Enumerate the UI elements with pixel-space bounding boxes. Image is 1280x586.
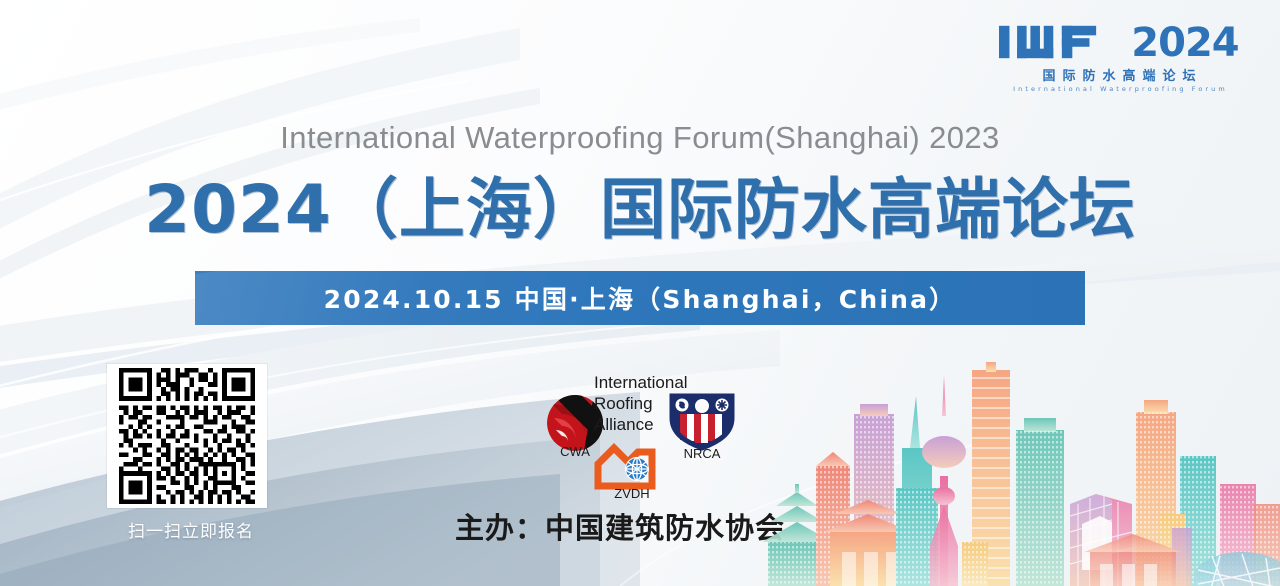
city-skyline xyxy=(760,356,1280,586)
zvdh-logo-icon: ZVDH xyxy=(594,442,670,500)
qr-code-icon xyxy=(111,368,263,504)
poster-canvas: 2024 国际防水高端论坛 International Waterproofin… xyxy=(0,0,1280,586)
nrca-logo-icon: NRCA xyxy=(666,392,738,460)
iwf-logo-main: 2024 xyxy=(994,18,1244,62)
qr-registration-block[interactable]: 扫一扫立即报名 xyxy=(107,364,275,542)
cwa-label: CWA xyxy=(560,444,590,458)
qr-caption: 扫一扫立即报名 xyxy=(107,517,275,542)
date-location-banner: 2024.10.15 中国·上海（Shanghai，China） xyxy=(195,271,1085,325)
association-logos: CWA International Roofing Alliance xyxy=(536,370,751,500)
organizer-text: 主办：中国建筑防水协会 xyxy=(455,505,785,547)
iwf-logo: 2024 国际防水高端论坛 International Waterproofin… xyxy=(994,18,1244,90)
alliance-line-1: International xyxy=(594,372,688,393)
page-title: 2024（上海）国际防水高端论坛 xyxy=(0,174,1280,246)
qr-code[interactable] xyxy=(107,364,267,508)
city-skyline-icon xyxy=(760,356,1280,586)
iwf-logo-year: 2024 xyxy=(1131,24,1238,62)
iwf-logo-en-tagline: International Waterproofing Forum xyxy=(994,85,1244,93)
subtitle-english: International Waterproofing Forum(Shangh… xyxy=(0,120,1280,156)
nrca-label: NRCA xyxy=(684,446,721,460)
zvdh-label: ZVDH xyxy=(614,486,649,500)
iwf-wordmark-icon xyxy=(999,22,1121,62)
iwf-logo-cn-tagline: 国际防水高端论坛 xyxy=(994,65,1244,84)
date-location-text: 2024.10.15 中国·上海（Shanghai，China） xyxy=(324,280,957,316)
